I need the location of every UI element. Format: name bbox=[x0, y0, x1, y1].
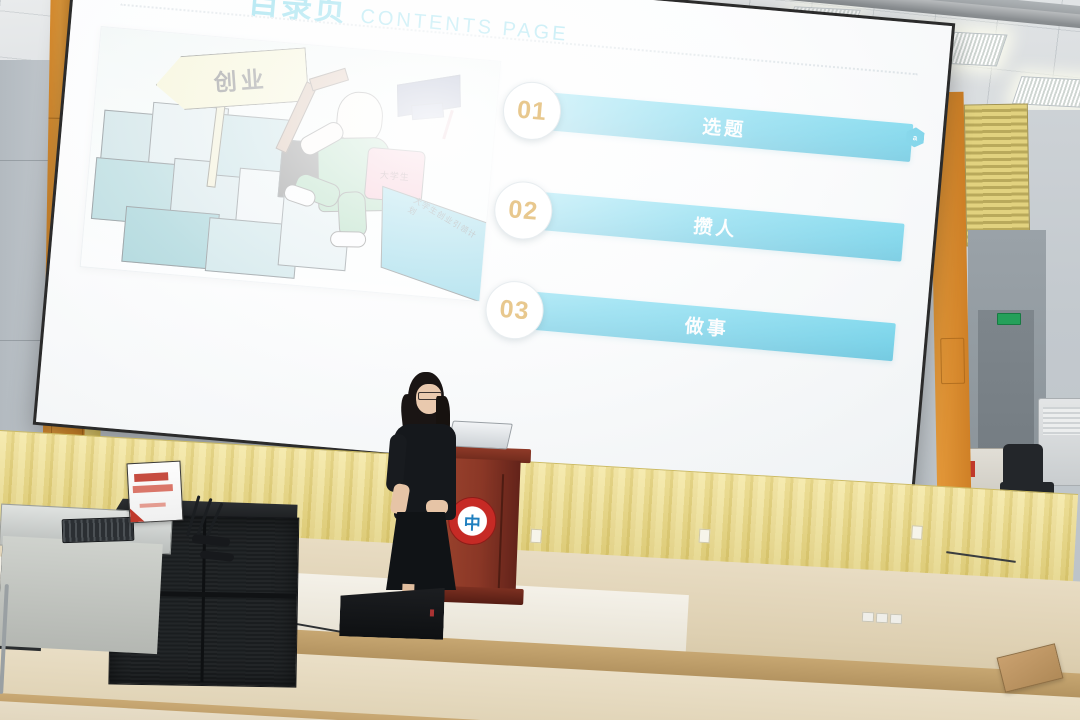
contents-item-label: 选题 bbox=[701, 111, 747, 142]
graduation-cap-base bbox=[411, 102, 444, 120]
speaker-indicator-light bbox=[430, 609, 434, 616]
hexagon-badge-label: a bbox=[913, 133, 918, 142]
presenter-skirt bbox=[386, 512, 456, 590]
contents-item-bar[interactable]: 做事 bbox=[518, 291, 896, 362]
table-card-sign bbox=[126, 461, 183, 524]
wall-vent-louvers bbox=[964, 103, 1030, 246]
student-shoe bbox=[330, 231, 366, 248]
contents-item[interactable]: 02 攒人 bbox=[492, 179, 915, 271]
sign-text-line bbox=[140, 502, 166, 507]
av-console-cabinet bbox=[0, 536, 163, 654]
presenter-hand bbox=[426, 500, 448, 514]
floor-socket-plate bbox=[890, 614, 903, 625]
sign-accent-triangle bbox=[130, 508, 145, 523]
contents-item[interactable]: 03 做事 bbox=[483, 279, 906, 371]
contents-item-bar[interactable]: 选题 bbox=[535, 91, 913, 162]
podium-groove bbox=[497, 474, 504, 600]
backpack-text: 大学生 bbox=[379, 167, 410, 183]
sign-text-line bbox=[134, 472, 168, 482]
contents-item-bar[interactable]: 攒人 bbox=[527, 191, 905, 262]
wall-outlet bbox=[699, 529, 711, 544]
contents-item-label: 做事 bbox=[684, 311, 730, 342]
contents-item-number: 03 bbox=[498, 294, 530, 325]
wall-outlet bbox=[911, 525, 923, 540]
floor-socket-plate bbox=[876, 613, 889, 624]
air-conditioner-unit bbox=[1038, 398, 1080, 486]
contents-item-number: 01 bbox=[516, 95, 548, 126]
contents-list: 01 选题 02 攒人 bbox=[479, 79, 924, 414]
emblem-character: 中 bbox=[463, 508, 481, 534]
contents-item-number: 02 bbox=[507, 195, 539, 226]
presentation-hall-photo: 目录页 CONTENTS PAGE bbox=[0, 0, 1080, 720]
signpost-text: 创业 bbox=[194, 60, 268, 99]
audio-mixer[interactable] bbox=[62, 517, 135, 543]
slide-illustration: 创业 大学生 bbox=[80, 26, 502, 302]
contents-item[interactable]: 01 选题 bbox=[501, 79, 924, 171]
ac-vent-lines bbox=[1043, 407, 1080, 435]
sign-text-line bbox=[133, 484, 173, 493]
column-panel bbox=[940, 338, 965, 384]
exit-sign bbox=[997, 313, 1021, 325]
contents-item-number-badge: 01 bbox=[501, 79, 564, 142]
office-chair-back bbox=[1003, 444, 1043, 486]
contents-item-number-badge: 03 bbox=[483, 279, 546, 342]
contents-item-number-badge: 02 bbox=[492, 179, 555, 242]
presenter-person bbox=[386, 372, 460, 612]
wall-outlet bbox=[530, 529, 542, 544]
contents-item-label: 攒人 bbox=[693, 211, 739, 242]
floor-socket-plate bbox=[862, 612, 875, 623]
